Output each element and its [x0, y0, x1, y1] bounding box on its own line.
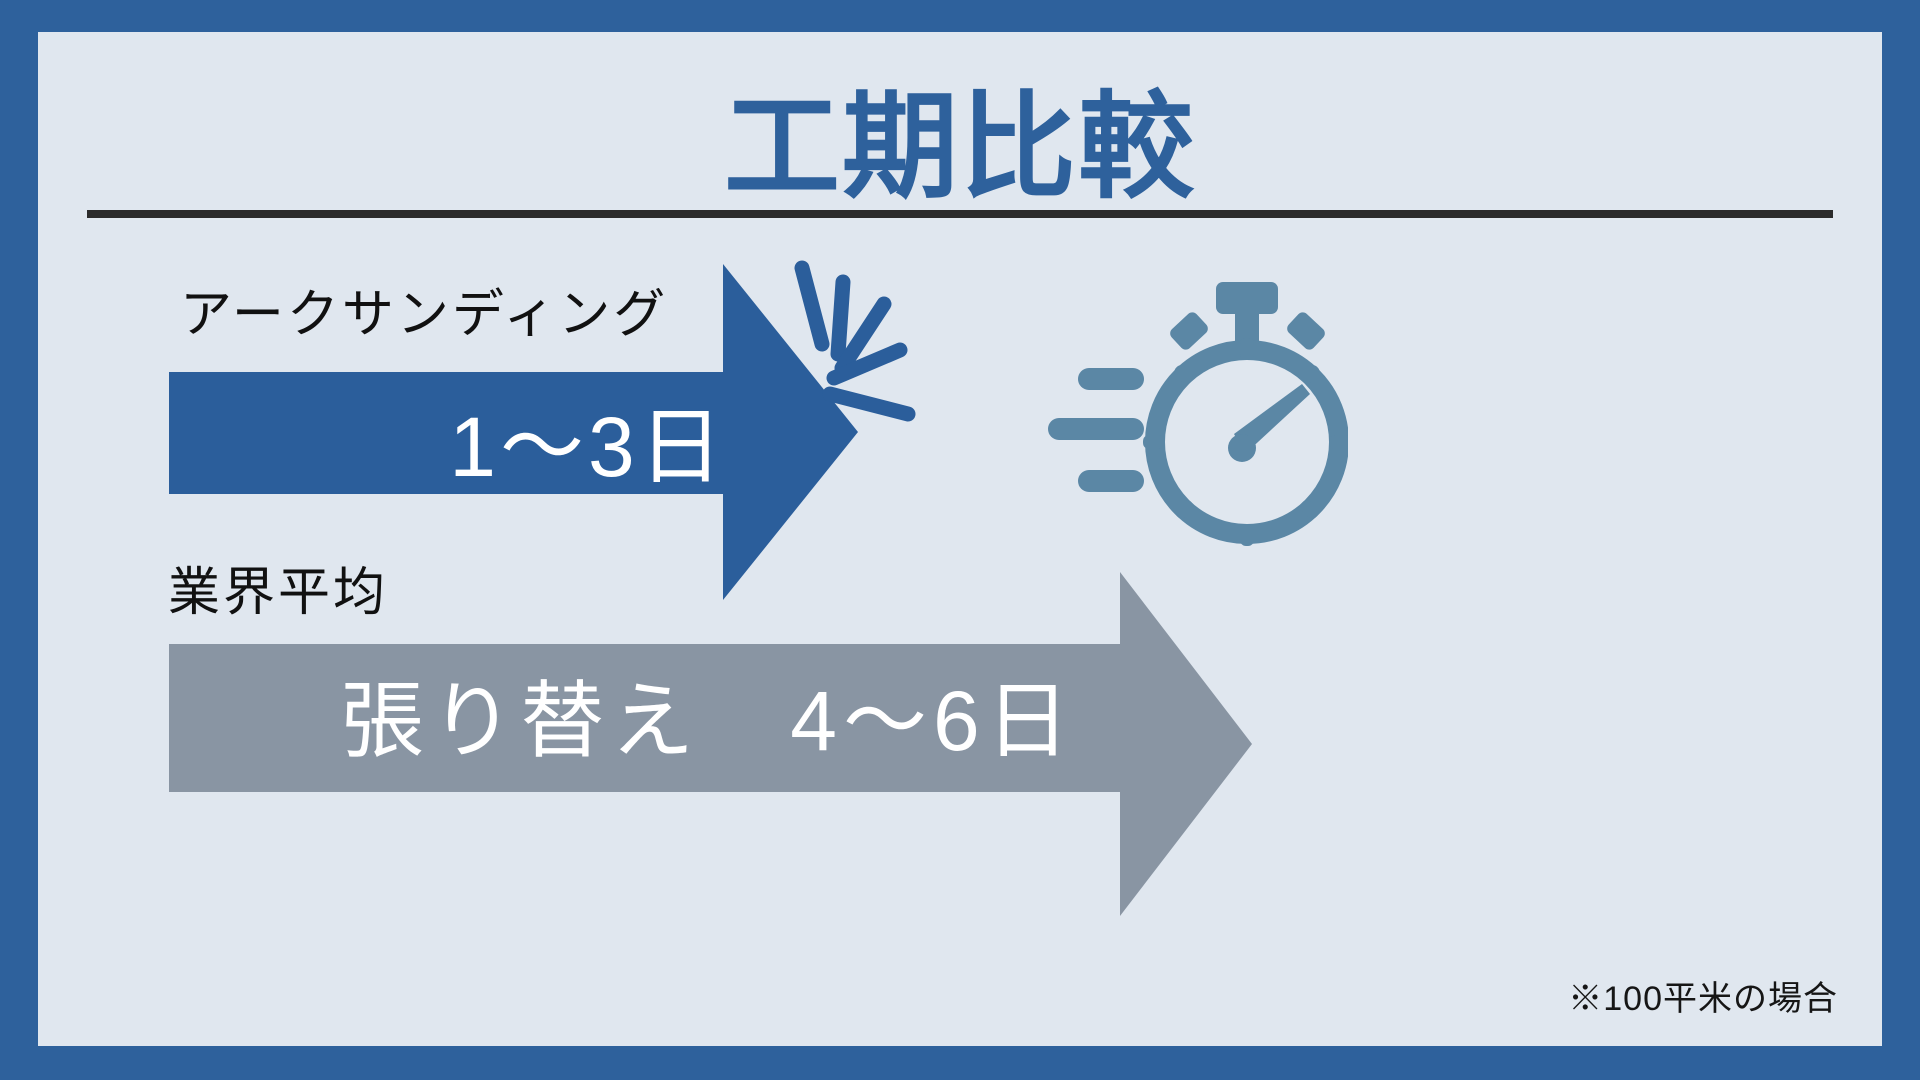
infographic-canvas: 工期比較 アークサンディング 業界平均 1〜3日 張り替え 4〜6日 [0, 0, 1920, 1080]
footnote-text: ※100平米の場合 [1568, 971, 1838, 1020]
title-divider [87, 210, 1833, 218]
row-label-arc-sanding: アークサンディング [180, 272, 668, 347]
row-label-industry-average: 業界平均 [168, 550, 388, 625]
stopwatch-icon [1048, 282, 1348, 572]
arrow-value-industry-average: 張り替え 4〜6日 [338, 654, 1078, 775]
page-title: 工期比較 [38, 84, 1882, 212]
arrow-value-arc-sanding: 1〜3日 [338, 380, 838, 501]
burst-icon [776, 254, 956, 464]
content-panel: 工期比較 アークサンディング 業界平均 1〜3日 張り替え 4〜6日 [38, 32, 1882, 1046]
